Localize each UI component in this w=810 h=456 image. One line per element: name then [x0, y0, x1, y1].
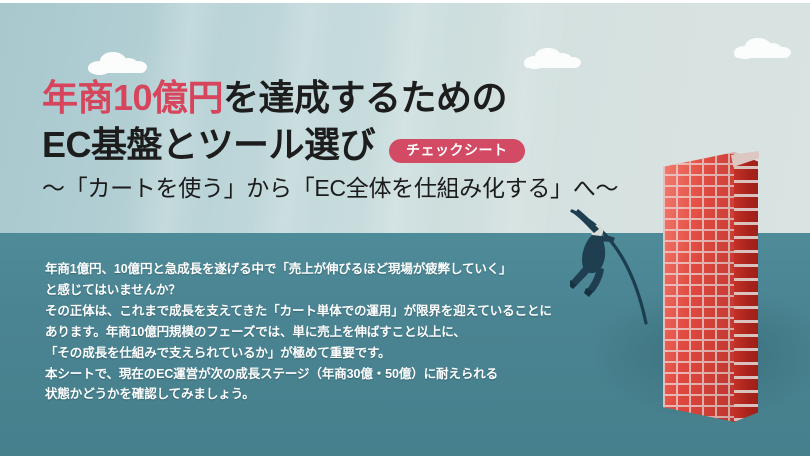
- hero-banner: 年商10億円を達成するための EC基盤とツール選び チェックシート 〜「カートを…: [0, 0, 810, 456]
- body-copy-line: と感じてはいませんか？: [45, 280, 645, 301]
- headline-line-2: EC基盤とツール選び: [42, 124, 375, 166]
- headline-subtitle: 〜「カートを使う」から「EC全体を仕組み化する」へ〜: [42, 173, 642, 203]
- headline-line-2-row: EC基盤とツール選び チェックシート: [42, 124, 642, 166]
- headline-accent-revenue: 年商10億円: [42, 77, 223, 118]
- body-copy-line: その正体は、これまで成長を支えてきた「カート単体での運用」が限界を迎えていること…: [45, 301, 645, 322]
- brick-wall-side-face: [734, 152, 758, 422]
- check-sheet-badge: チェックシート: [389, 139, 525, 163]
- headline-line-1-rest: を達成するための: [223, 77, 507, 118]
- headline-line-1: 年商10億円を達成するための: [42, 76, 642, 120]
- hero-title-block: 年商10億円を達成するための EC基盤とツール選び チェックシート 〜「カートを…: [42, 76, 642, 203]
- cloud-right-icon: [734, 37, 790, 58]
- body-copy-line: 「その成長を仕組みで支えられているか」が極めて重要です。: [45, 343, 645, 364]
- cloud-left-icon: [88, 51, 146, 73]
- cloud-center-icon: [524, 47, 580, 68]
- brick-wall: [663, 152, 758, 422]
- body-copy-line: あります。年商10億円規模のフェーズでは、単に売上を伸ばすこと以上に、: [45, 322, 645, 343]
- hero-body-copy: 年商1億円、10億円と急成長を遂げる中で「売上が伸びるほど現場が疲弊していく」と…: [45, 259, 645, 405]
- body-copy-line: 本シートで、現在のEC運営が次の成長ステージ（年商30億・50億）に耐えられる: [45, 364, 645, 385]
- brick-wall-shading: [663, 152, 735, 422]
- body-copy-line: 年商1億円、10億円と急成長を遂げる中で「売上が伸びるほど現場が疲弊していく」: [45, 259, 645, 280]
- body-copy-line: 状態かどうかを確認してみましょう。: [45, 384, 645, 405]
- top-edge-rule: [0, 0, 810, 3]
